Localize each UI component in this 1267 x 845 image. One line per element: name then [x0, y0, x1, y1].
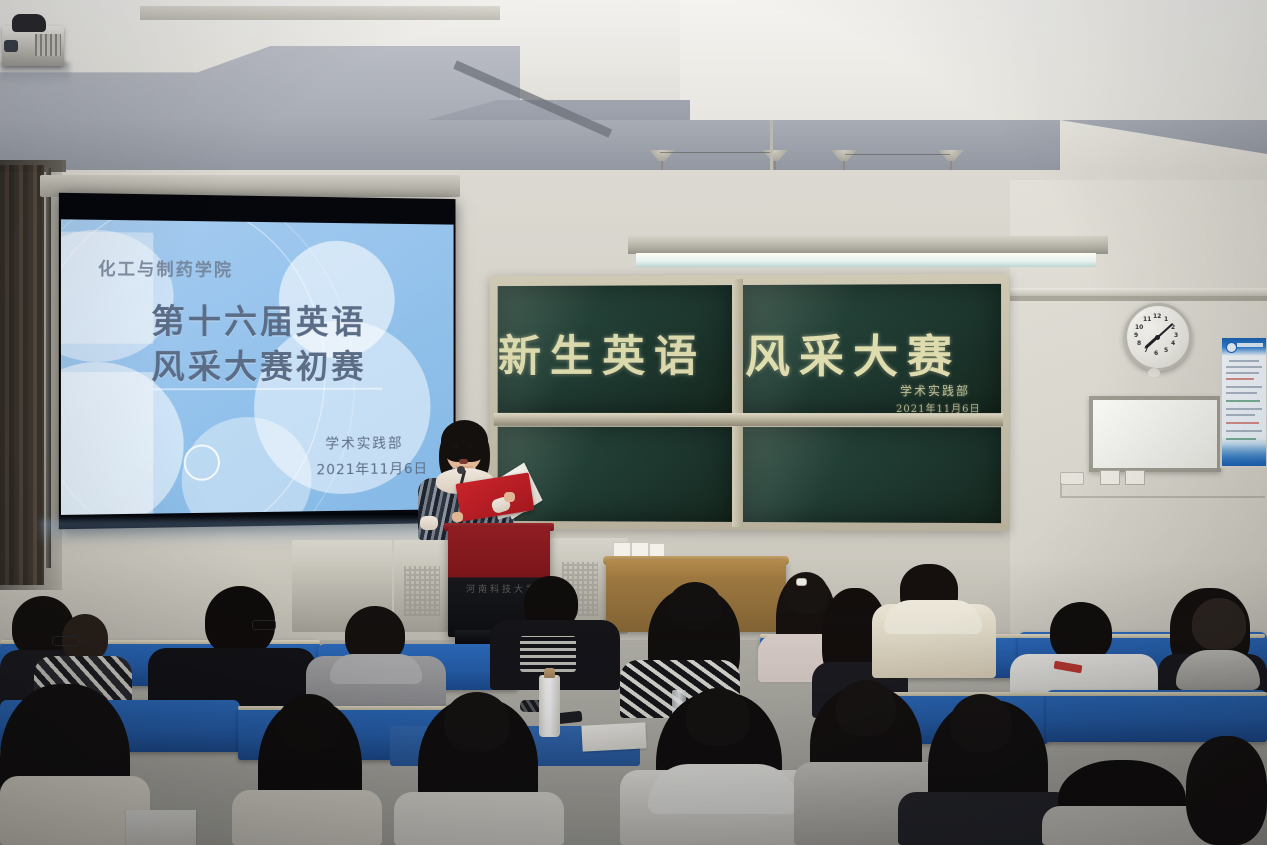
speaker-hand: [504, 492, 515, 502]
audience-head: [444, 692, 510, 752]
thermos-cap: [544, 668, 555, 678]
power-socket[interactable]: [1100, 470, 1120, 485]
blackboard-text-left: 新生英语: [498, 322, 706, 384]
clock-numeral: 8: [1137, 340, 1141, 347]
audience-light-top: [394, 792, 564, 845]
wall-poster: [1220, 336, 1267, 468]
power-socket[interactable]: [1125, 470, 1145, 485]
ceiling-wire: [845, 154, 950, 155]
slide-title-line2: 风采大赛初赛: [151, 344, 438, 389]
wall-conduit: [1060, 496, 1265, 498]
ceiling-wire: [660, 152, 770, 153]
hoodie-hood: [1176, 650, 1260, 690]
hair-clip-icon: [796, 578, 807, 586]
glasses-icon: [52, 636, 80, 646]
microphone-icon: [457, 466, 465, 474]
hoodie-hood: [330, 654, 422, 684]
clock-numeral: 5: [1164, 347, 1168, 354]
paper-on-desk: [581, 722, 646, 751]
wall-socket[interactable]: [1060, 472, 1084, 485]
speaker-grill: [404, 566, 440, 616]
blackboard-light-housing: [628, 236, 1108, 254]
fluorescent-tube: [636, 253, 1096, 267]
speaker-mouth: [459, 459, 468, 464]
audience-head: [668, 582, 722, 630]
slide-title: 第十六届英语 风采大赛初赛: [151, 299, 438, 389]
jacket-print: [520, 636, 576, 672]
audience-light-top: [232, 790, 382, 845]
audience-head: [1192, 598, 1246, 650]
wall-molding: [1010, 296, 1267, 301]
projector-vent-fins: [35, 34, 61, 56]
clock-numeral: 11: [1143, 316, 1151, 323]
blackboard-panel-lower-right: [743, 427, 1001, 523]
clock-numeral: 3: [1174, 332, 1178, 339]
speaker-hair: [441, 420, 488, 462]
seat-row[interactable]: [1046, 690, 1267, 742]
wall-conduit: [1060, 483, 1062, 497]
audience-head: [686, 688, 750, 746]
clock-numeral: 10: [1135, 324, 1143, 331]
presentation-slide: 化工与制药学院 第十六届英语 风采大赛初赛 学术实践部 2021年11月6日: [61, 219, 454, 515]
speaker-eye: [453, 445, 458, 448]
ceiling-vent: [140, 6, 500, 20]
glasses-icon: [252, 620, 276, 630]
wall-whiteboard: [1089, 396, 1221, 472]
speaker-cuff: [420, 516, 438, 530]
slide-title-line1: 第十六届英语: [151, 299, 438, 344]
audience-hair: [1186, 736, 1267, 845]
wall-pipe: [46, 168, 51, 568]
blackboard-text-right: 风采大赛: [745, 320, 961, 385]
seat-edge: [238, 706, 476, 710]
blackboard-signature-date: 2021年11月6日: [896, 400, 981, 415]
clock-center-pin: [1155, 335, 1160, 340]
lecture-hall-photo: 化工与制药学院 第十六届英语 风采大赛初赛 学术实践部 2021年11月6日 新…: [0, 0, 1267, 845]
clock-numeral: 6: [1154, 350, 1158, 357]
seat-edge: [848, 692, 1267, 696]
thermos-bottle: [539, 675, 560, 737]
jacket-hood: [884, 600, 982, 634]
poster-wave-graphic: [1222, 444, 1266, 466]
projector-lens: [4, 40, 18, 52]
clock-numeral: 9: [1134, 332, 1138, 339]
slide-organizer: 学术实践部: [325, 433, 403, 453]
poster-emblem-icon: [1226, 342, 1237, 353]
slide-date: 2021年11月6日: [316, 458, 427, 479]
clock-numeral: 12: [1153, 313, 1161, 320]
wall-socket-group[interactable]: [1100, 470, 1145, 485]
speaker-hand: [452, 512, 463, 522]
audience-head: [278, 694, 340, 752]
wall-clock: 12 1 2 3 4 5 6 7 8 9 10 11: [1124, 303, 1192, 371]
blackboard-signature: 学术实践部: [900, 382, 970, 399]
audience-head: [950, 694, 1012, 752]
speaker-eye: [468, 445, 473, 448]
hoodie-hood: [648, 764, 798, 814]
audience-head: [836, 680, 896, 736]
paper-on-desk: [126, 810, 196, 845]
projection-screen: 化工与制药学院 第十六届英语 风采大赛初赛 学术实践部 2021年11月6日: [59, 193, 456, 529]
wall-paint-mark: [1148, 368, 1160, 377]
slide-department-label: 化工与制药学院: [98, 254, 233, 280]
audience-head: [1050, 602, 1112, 662]
projector-mount-bracket: [12, 14, 46, 32]
poster-title-bar: [1237, 343, 1263, 347]
blackboard-divider: [732, 279, 743, 527]
clock-numeral: 1: [1164, 316, 1168, 323]
clock-numeral: 4: [1171, 340, 1175, 347]
